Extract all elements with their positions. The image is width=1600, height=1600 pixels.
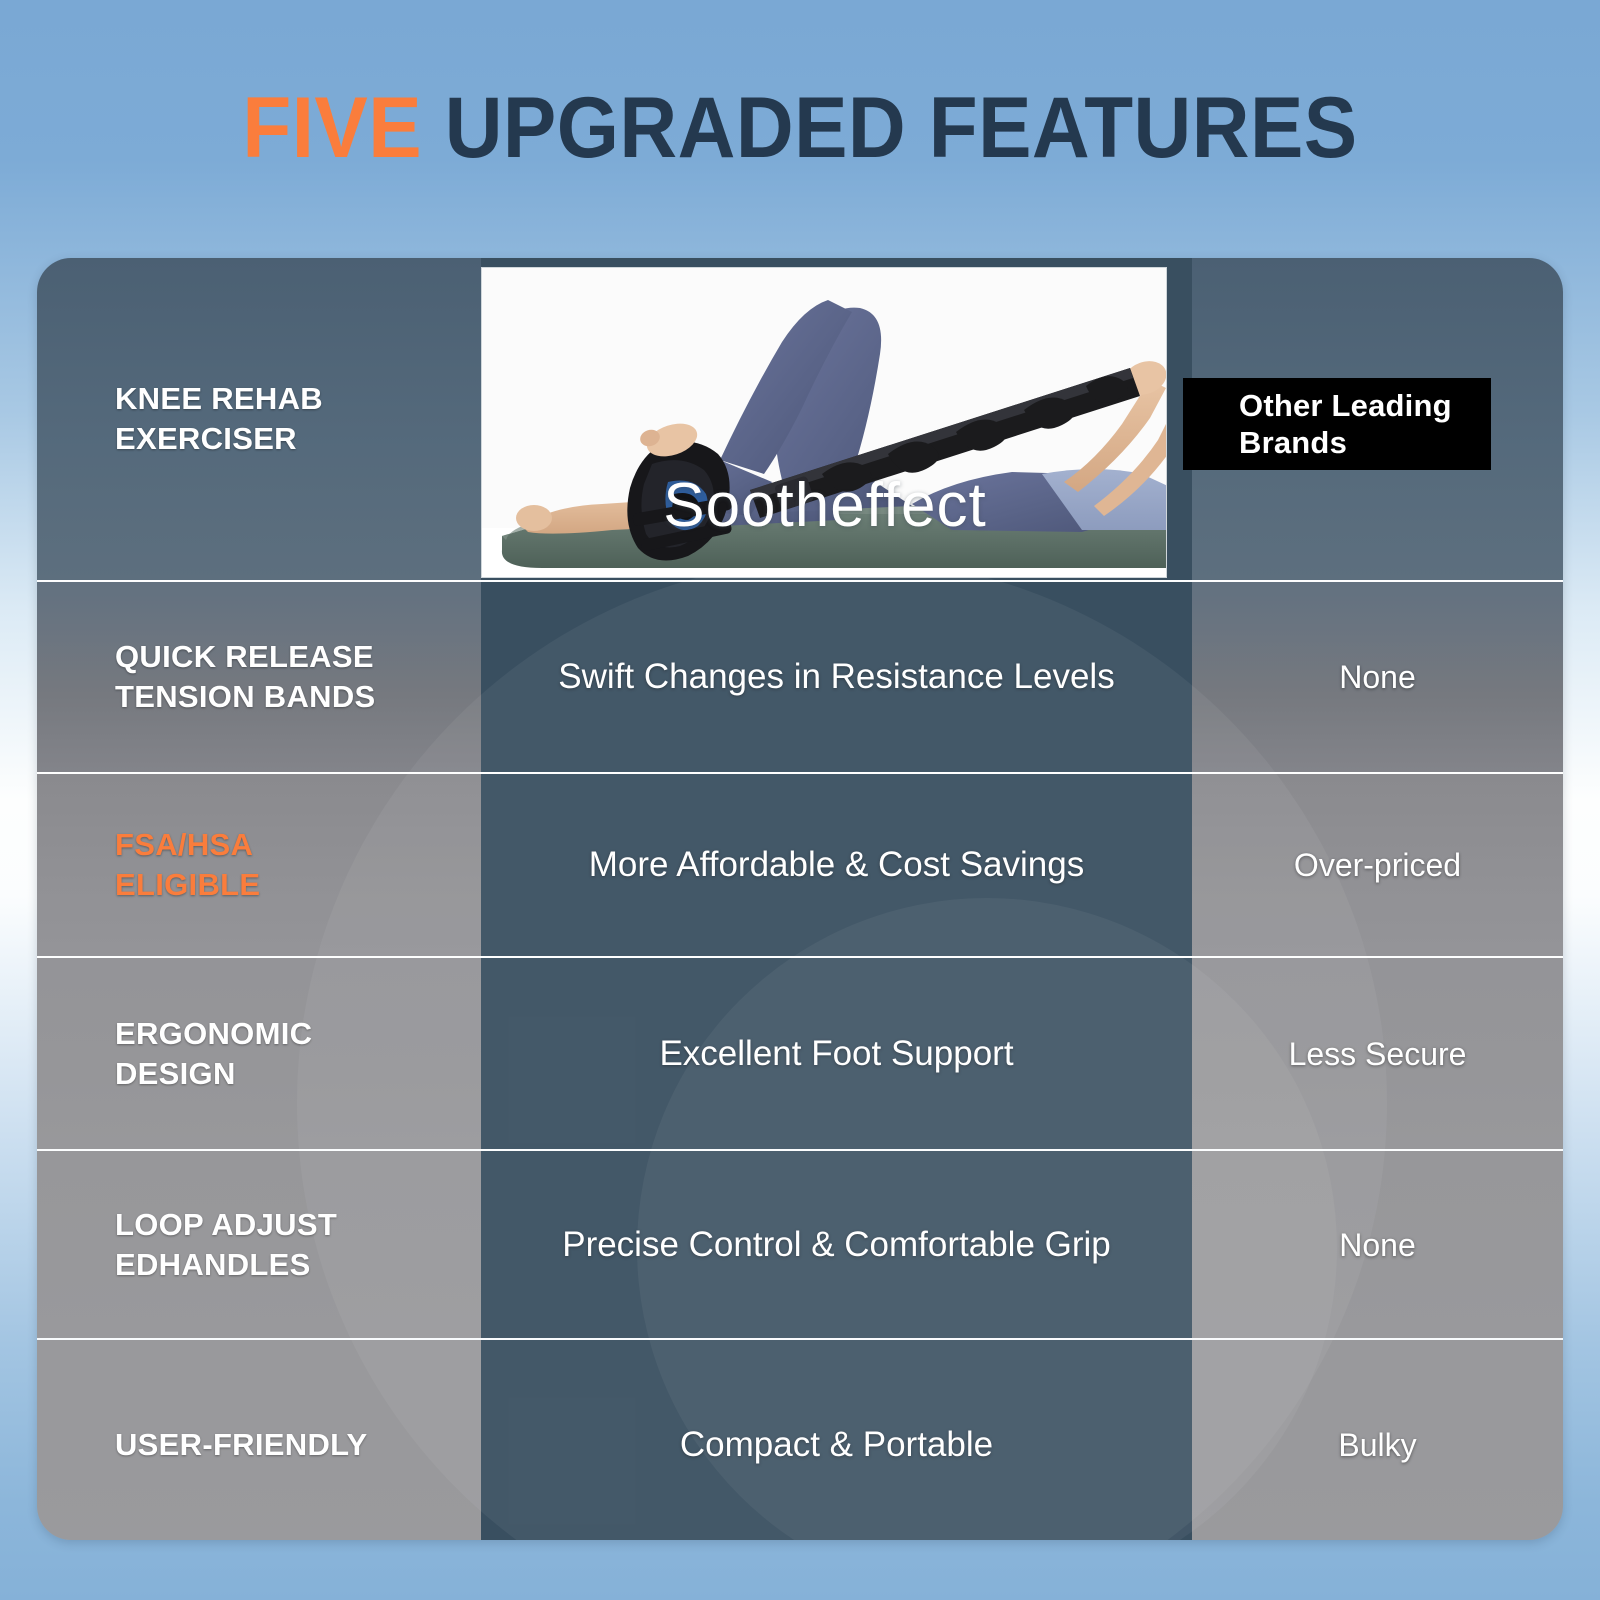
feature-label-line: EXERCISER xyxy=(115,421,297,456)
feature-label-line: USER-FRIENDLY xyxy=(115,1427,368,1462)
table-row: USER-FRIENDLY Compact & Portable Bulky xyxy=(37,1340,1563,1540)
feature-label: USER-FRIENDLY xyxy=(115,1425,368,1465)
benefit-cell: Excellent Foot Support xyxy=(481,958,1192,1149)
brand-wordmark: Sootheffect xyxy=(482,473,1167,539)
feature-label: LOOP ADJUST EDHANDLES xyxy=(115,1205,337,1285)
feature-cell: ERGONOMIC DESIGN xyxy=(37,958,481,1149)
feature-label: ERGONOMIC DESIGN xyxy=(115,1014,312,1094)
feature-label-line: TENSION BANDS xyxy=(115,679,376,714)
title-rest: UPGRADED FEATURES xyxy=(422,80,1358,176)
row-divider xyxy=(37,772,1563,774)
competitor-text: None xyxy=(1339,1225,1416,1265)
feature-label-line: DESIGN xyxy=(115,1056,236,1091)
page-title: FIVE UPGRADED FEATURES xyxy=(56,78,1544,178)
benefit-text: Precise Control & Comfortable Grip xyxy=(544,1223,1129,1267)
row-divider xyxy=(37,1149,1563,1151)
feature-cell: USER-FRIENDLY xyxy=(37,1340,481,1540)
competitor-text: Bulky xyxy=(1338,1425,1416,1465)
feature-cell: KNEE REHAB EXERCISER xyxy=(37,258,481,580)
benefit-cell: Compact & Portable xyxy=(481,1340,1192,1540)
competitor-cell: Bulky xyxy=(1192,1340,1563,1540)
row-divider xyxy=(37,1338,1563,1340)
benefit-cell: Precise Control & Comfortable Grip xyxy=(481,1151,1192,1338)
product-photo: Sootheffect xyxy=(481,267,1167,578)
competitor-cell: Over-priced xyxy=(1192,774,1563,956)
table-row: FSA/HSA ELIGIBLE More Affordable & Cost … xyxy=(37,774,1563,956)
competitor-text: Over-priced xyxy=(1294,845,1461,885)
benefit-cell: More Affordable & Cost Savings xyxy=(481,774,1192,956)
competitor-cell: None xyxy=(1192,1151,1563,1338)
feature-cell: QUICK RELEASE TENSION BANDS xyxy=(37,582,481,772)
benefit-text: Excellent Foot Support xyxy=(641,1032,1031,1076)
feature-label-line: QUICK RELEASE xyxy=(115,639,374,674)
infographic-page: FIVE UPGRADED FEATURES KNEE REHAB EXERCI… xyxy=(0,0,1600,1600)
feature-label: FSA/HSA ELIGIBLE xyxy=(115,825,260,905)
table-row: QUICK RELEASE TENSION BANDS Swift Change… xyxy=(37,582,1563,772)
table-row: ERGONOMIC DESIGN Excellent Foot Support … xyxy=(37,958,1563,1149)
title-highlight-word: FIVE xyxy=(242,80,422,176)
competitor-cell: Less Secure xyxy=(1192,958,1563,1149)
feature-cell: FSA/HSA ELIGIBLE xyxy=(37,774,481,956)
benefit-text: Swift Changes in Resistance Levels xyxy=(540,655,1132,699)
competitor-text: Less Secure xyxy=(1289,1034,1467,1074)
competitor-text: None xyxy=(1339,657,1416,697)
row-divider xyxy=(37,580,1563,582)
row-divider xyxy=(37,956,1563,958)
feature-label-line: LOOP ADJUST xyxy=(115,1207,337,1242)
competitor-cell: None xyxy=(1192,582,1563,772)
benefit-text: More Affordable & Cost Savings xyxy=(571,843,1102,887)
feature-label: QUICK RELEASE TENSION BANDS xyxy=(115,637,376,717)
other-leading-brands-badge: Other Leading Brands xyxy=(1183,378,1491,470)
feature-label-line: ERGONOMIC xyxy=(115,1016,312,1051)
feature-label-line: ELIGIBLE xyxy=(115,867,260,902)
table-row: LOOP ADJUST EDHANDLES Precise Control & … xyxy=(37,1151,1563,1338)
feature-label-line: EDHANDLES xyxy=(115,1247,311,1282)
other-leading-brands-label: Other Leading Brands xyxy=(1183,387,1491,461)
feature-cell: LOOP ADJUST EDHANDLES xyxy=(37,1151,481,1338)
benefit-cell: Swift Changes in Resistance Levels xyxy=(481,582,1192,772)
feature-label-line: KNEE REHAB xyxy=(115,381,323,416)
feature-label: KNEE REHAB EXERCISER xyxy=(115,379,323,459)
benefit-text: Compact & Portable xyxy=(662,1423,1011,1467)
feature-label-line: FSA/HSA xyxy=(115,827,253,862)
